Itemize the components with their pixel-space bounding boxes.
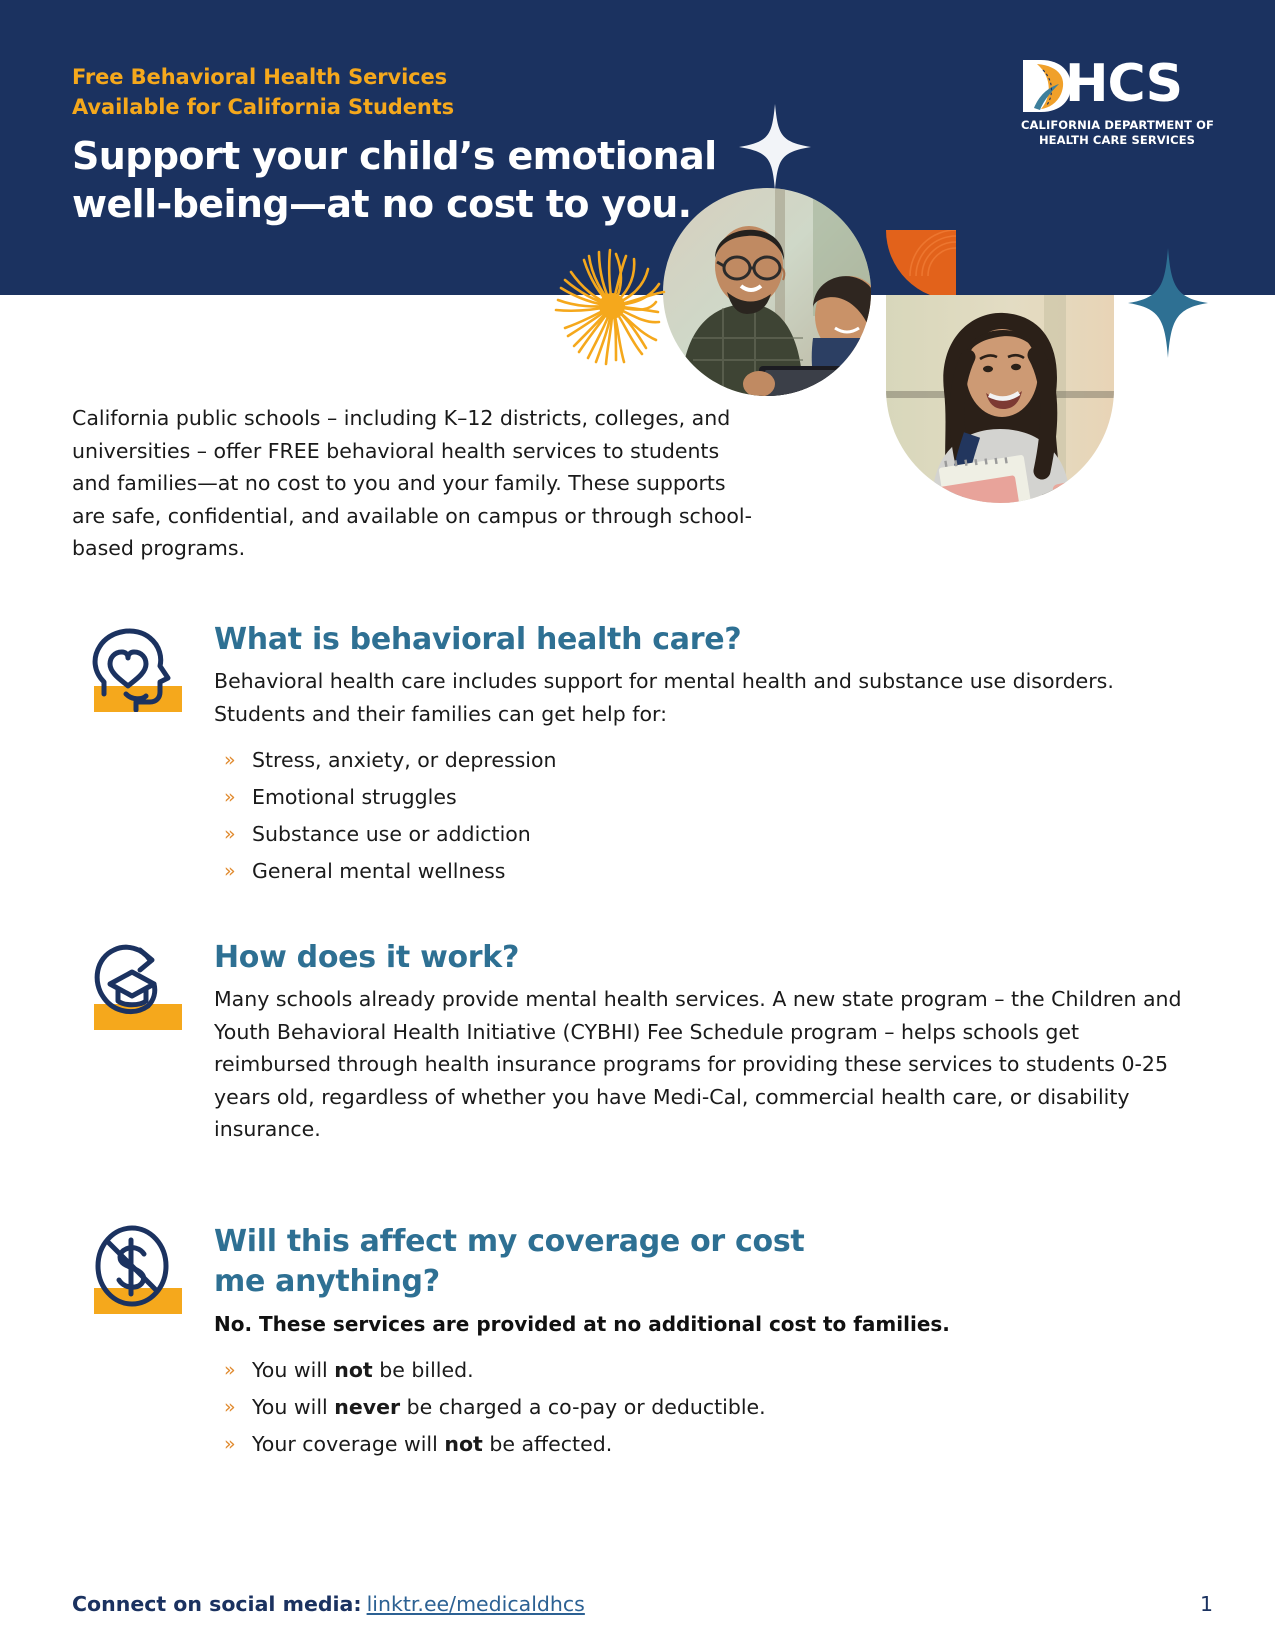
photo-student: [886, 295, 1114, 503]
head-with-heart-icon: [84, 620, 188, 712]
hero-title-line2: well-being—at no cost to you.: [72, 180, 717, 228]
hero-eyebrow: Free Behavioral Health Services Availabl…: [72, 62, 454, 122]
bullet-guillemet-icon: »: [224, 779, 236, 816]
list-item-emphasis: not: [334, 1358, 372, 1382]
section-what-is-behavioral-health-care: What is behavioral health care? Behavior…: [72, 620, 1192, 890]
dhcs-logo-letters: HCS: [1065, 56, 1182, 112]
bullet-guillemet-icon: »: [224, 853, 236, 890]
list-item-post: be billed.: [373, 1358, 474, 1382]
footer-label: Connect on social media:: [72, 1592, 362, 1616]
list-item: »Your coverage will not be affected.: [214, 1426, 1192, 1463]
sunburst-spiral-icon: [546, 240, 678, 372]
bullet-guillemet-icon: »: [224, 1352, 236, 1389]
section-heading: Will this affect my coverage or cost me …: [214, 1222, 1192, 1302]
list-item-label: General mental wellness: [252, 859, 505, 883]
graduation-cap-refresh-icon: [84, 938, 188, 1030]
hero-eyebrow-line2: Available for California Students: [72, 92, 454, 122]
section-icon-container: [84, 620, 188, 712]
no-cost-dollar-icon: [84, 1222, 188, 1314]
section-body: What is behavioral health care? Behavior…: [214, 620, 1192, 890]
bullet-guillemet-icon: »: [224, 742, 236, 779]
star-teal-icon: [1128, 248, 1208, 358]
section-will-this-affect-my-coverage: Will this affect my coverage or cost me …: [72, 1222, 1192, 1463]
bullet-guillemet-icon: »: [224, 1389, 236, 1426]
section-lead-statement: No. These services are provided at no ad…: [214, 1308, 1192, 1340]
hero-title: Support your child’s emotional well-bein…: [72, 132, 717, 228]
bullet-guillemet-icon: »: [224, 816, 236, 853]
list-item: »Emotional struggles: [214, 779, 1192, 816]
social-media-link[interactable]: linktr.ee/medicaldhcs: [367, 1592, 585, 1616]
section-body: How does it work? Many schools already p…: [214, 938, 1192, 1146]
list-item: »You will not be billed.: [214, 1352, 1192, 1389]
footer: Connect on social media:linktr.ee/medica…: [72, 1592, 1192, 1616]
list-item-post: be affected.: [483, 1432, 612, 1456]
section-icon-container: [84, 938, 188, 1030]
dhcs-logo: HCS CALIFORNIA DEPARTMENT OF HEALTH CARE…: [1021, 58, 1213, 154]
list-item-label: Emotional struggles: [252, 785, 457, 809]
hero-eyebrow-line1: Free Behavioral Health Services: [72, 62, 454, 92]
dhcs-logo-subtitle-line2: HEALTH CARE SERVICES: [1021, 133, 1213, 147]
list-item-post: be charged a co-pay or deductible.: [400, 1395, 766, 1419]
list-item-emphasis: never: [334, 1395, 400, 1419]
orange-shape-lines: [886, 230, 956, 300]
list-item: »Stress, anxiety, or depression: [214, 742, 1192, 779]
bullet-guillemet-icon: »: [224, 1426, 236, 1463]
list-item-label: Stress, anxiety, or depression: [252, 748, 557, 772]
dhcs-logo-wordmark: HCS: [1021, 58, 1213, 116]
star-white-icon: [739, 104, 811, 190]
section-paragraph: Behavioral health care includes support …: [214, 665, 1192, 730]
hero-title-line1: Support your child’s emotional: [72, 132, 717, 180]
list-item-pre: You will: [252, 1395, 334, 1419]
section-paragraph: Many schools already provide mental heal…: [214, 983, 1192, 1146]
section-how-does-it-work: How does it work? Many schools already p…: [72, 938, 1192, 1146]
section-heading: How does it work?: [214, 938, 1192, 978]
bullet-list: »Stress, anxiety, or depression »Emotion…: [214, 742, 1192, 890]
list-item: »You will never be charged a co-pay or d…: [214, 1389, 1192, 1426]
list-item-pre: Your coverage will: [252, 1432, 444, 1456]
section-heading: What is behavioral health care?: [214, 620, 1192, 660]
list-item-pre: You will: [252, 1358, 334, 1382]
section-heading-line1: Will this affect my coverage or cost: [214, 1222, 1192, 1262]
flyer-page: Free Behavioral Health Services Availabl…: [0, 0, 1275, 1650]
intro-paragraph: California public schools – including K–…: [72, 402, 752, 565]
bullet-list: »You will not be billed. »You will never…: [214, 1352, 1192, 1463]
list-item: »General mental wellness: [214, 853, 1192, 890]
section-body: Will this affect my coverage or cost me …: [214, 1222, 1192, 1463]
list-item-label: Substance use or addiction: [252, 822, 531, 846]
page-number: 1: [1200, 1592, 1213, 1616]
section-icon-container: [84, 1222, 188, 1314]
list-item-emphasis: not: [444, 1432, 482, 1456]
section-heading-line2: me anything?: [214, 1262, 1192, 1302]
list-item: »Substance use or addiction: [214, 816, 1192, 853]
dhcs-logo-subtitle-line1: CALIFORNIA DEPARTMENT OF: [1021, 118, 1213, 132]
